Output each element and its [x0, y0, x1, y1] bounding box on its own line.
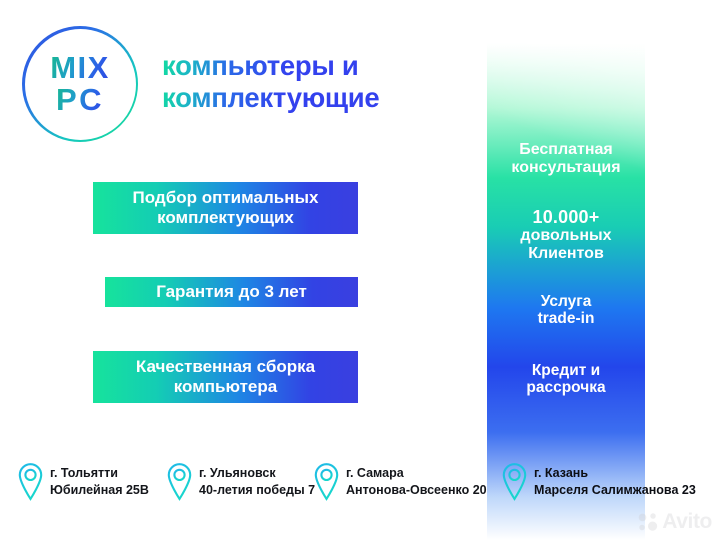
- benefit-line: рассрочка: [487, 379, 645, 396]
- location-pin-icon: [17, 462, 44, 502]
- address-row: г. Тольятти Юбилейная 25В г. Ульяновск 4…: [0, 462, 720, 506]
- address-item-samara: г. Самара Антонова-Овсеенко 20: [313, 462, 487, 502]
- address-street: Юбилейная 25В: [50, 482, 149, 499]
- benefits-panel: [487, 0, 645, 540]
- location-pin-icon: [501, 462, 528, 502]
- address-city: г. Казань: [534, 465, 696, 482]
- feature-badge-line: Качественная сборка: [136, 357, 315, 377]
- address-item-ulyanovsk: г. Ульяновск 40-летия победы 7: [166, 462, 315, 502]
- location-pin-icon: [313, 462, 340, 502]
- benefit-line: 10.000+: [487, 207, 645, 227]
- feature-badge-warranty: Гарантия до 3 лет: [105, 277, 358, 307]
- benefit-line: Бесплатная: [487, 141, 645, 159]
- headline-line-1: компьютеры и: [162, 50, 477, 82]
- benefit-line: довольных: [487, 227, 645, 245]
- address-text: г. Казань Марселя Салимжанова 23: [534, 465, 696, 498]
- address-item-kazan: г. Казань Марселя Салимжанова 23: [501, 462, 696, 502]
- address-city: г. Ульяновск: [199, 465, 315, 482]
- benefit-line: Клиентов: [487, 245, 645, 263]
- feature-badge-line: Подбор оптимальных: [133, 188, 319, 208]
- benefit-item-trade-in: Услуга trade-in: [487, 293, 645, 328]
- feature-badge-line: компьютера: [136, 377, 315, 397]
- address-street: Антонова-Овсеенко 20: [346, 482, 487, 499]
- logo-word-pc: PC: [56, 85, 104, 115]
- address-city: г. Самара: [346, 465, 487, 482]
- location-pin-icon: [166, 462, 193, 502]
- benefit-line: консультация: [487, 159, 645, 177]
- logo-word-mix: MIX: [50, 53, 110, 83]
- feature-badge-line: Гарантия до 3 лет: [156, 282, 307, 302]
- headline-line-2: комплектующие: [162, 82, 477, 114]
- feature-badge-components: Подбор оптимальных комплектующих: [93, 182, 358, 234]
- address-street: Марселя Салимжанова 23: [534, 482, 696, 499]
- benefit-item-credit: Кредит и рассрочка: [487, 362, 645, 397]
- benefit-item-clients: 10.000+ довольных Клиентов: [487, 207, 645, 263]
- feature-badge-assembly: Качественная сборка компьютера: [93, 351, 358, 403]
- address-street: 40-летия победы 7: [199, 482, 315, 499]
- benefit-line: Услуга: [487, 293, 645, 310]
- benefit-line: trade-in: [487, 310, 645, 327]
- avito-logo-icon: [637, 511, 659, 533]
- address-item-tolyatti: г. Тольятти Юбилейная 25В: [17, 462, 149, 502]
- benefit-item-consultation: Бесплатная консультация: [487, 141, 645, 177]
- page-title: компьютеры и комплектующие: [162, 50, 477, 115]
- address-text: г. Самара Антонова-Овсеенко 20: [346, 465, 487, 498]
- avito-watermark: Avito: [637, 510, 712, 534]
- address-text: г. Тольятти Юбилейная 25В: [50, 465, 149, 498]
- logo-circle-inner: MIX PC: [25, 29, 136, 140]
- address-city: г. Тольятти: [50, 465, 149, 482]
- logo-circle: MIX PC: [22, 26, 138, 142]
- feature-badge-line: комплектующих: [133, 208, 319, 228]
- benefit-line: Кредит и: [487, 362, 645, 379]
- avito-wordmark: Avito: [662, 510, 712, 534]
- address-text: г. Ульяновск 40-летия победы 7: [199, 465, 315, 498]
